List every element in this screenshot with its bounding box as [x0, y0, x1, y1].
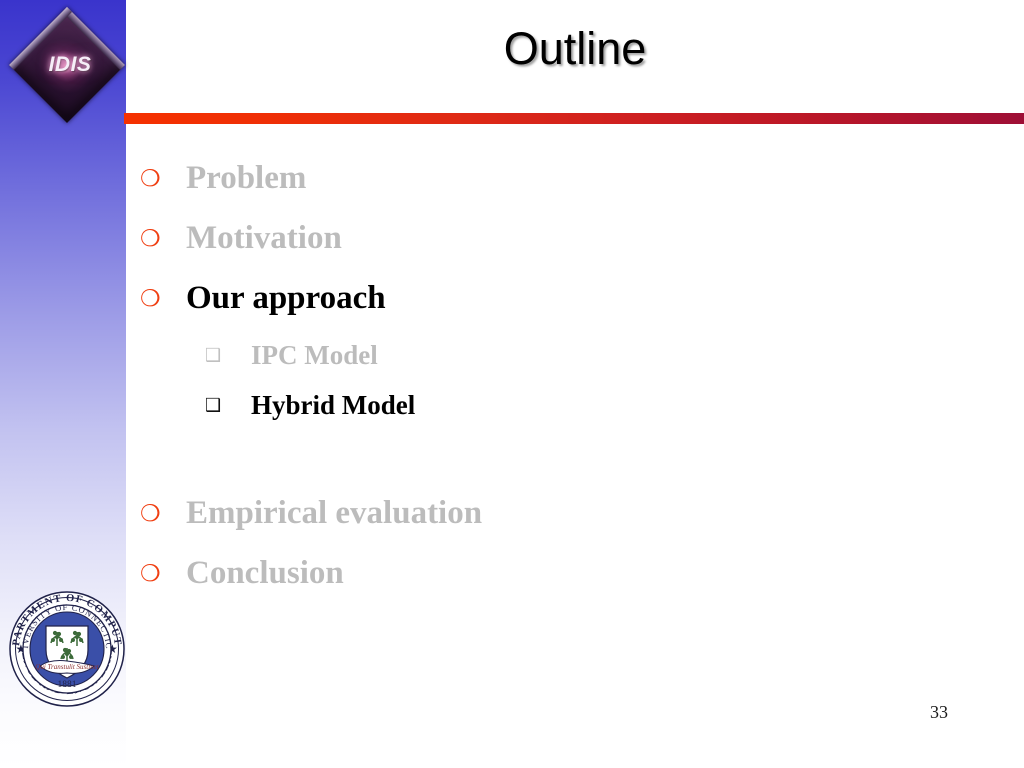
- square-bullet-icon: ❑: [205, 347, 251, 365]
- seal-star-bottom-right: ★: [82, 680, 89, 689]
- list-item[interactable]: ❍ Motivation: [140, 222, 980, 282]
- circle-bullet-icon: ❍: [140, 288, 186, 311]
- circle-bullet-icon: ❍: [140, 503, 186, 526]
- idis-diamond-face: [9, 7, 125, 123]
- list-item-label: Empirical evaluation: [186, 497, 482, 530]
- outline-list: ❍ Problem ❍ Motivation ❍ Our approach ❑ …: [140, 162, 980, 617]
- list-item-label: IPC Model: [251, 342, 378, 369]
- list-item-label: Our approach: [186, 282, 386, 315]
- list-item-label: Conclusion: [186, 557, 344, 590]
- list-item-label: Motivation: [186, 222, 342, 255]
- list-item[interactable]: ❍ Conclusion: [140, 557, 980, 617]
- circle-bullet-icon: ❍: [140, 168, 186, 191]
- list-item[interactable]: ❑ IPC Model: [140, 342, 980, 392]
- list-item[interactable]: ❍ Problem: [140, 162, 980, 222]
- list-item[interactable]: ❍ Our approach: [140, 282, 980, 342]
- list-item-label: Problem: [186, 162, 306, 195]
- circle-bullet-icon: ❍: [140, 563, 186, 586]
- list-item[interactable]: ❍ Empirical evaluation: [140, 497, 980, 557]
- page-number: 33: [930, 702, 948, 723]
- seal-star-bottom-left: ★: [44, 680, 51, 689]
- idis-logo: IDIS: [8, 6, 126, 124]
- page-title: Outline: [126, 26, 1024, 71]
- title-divider-rule: [124, 113, 1024, 124]
- list-spacer: [140, 442, 980, 497]
- list-item[interactable]: ❑ Hybrid Model: [140, 392, 980, 442]
- seal-year: 1881: [58, 680, 77, 690]
- seal-motto: Qui Transtulit Sustinet: [35, 663, 99, 671]
- list-item-label: Hybrid Model: [251, 392, 415, 419]
- square-bullet-icon: ❑: [205, 397, 251, 415]
- idis-diamond-icon: [9, 7, 125, 123]
- circle-bullet-icon: ❍: [140, 228, 186, 251]
- uconn-seal-icon: DEPARTMENT OF COMPUTER SCIENCE AND ENGIN…: [6, 588, 128, 710]
